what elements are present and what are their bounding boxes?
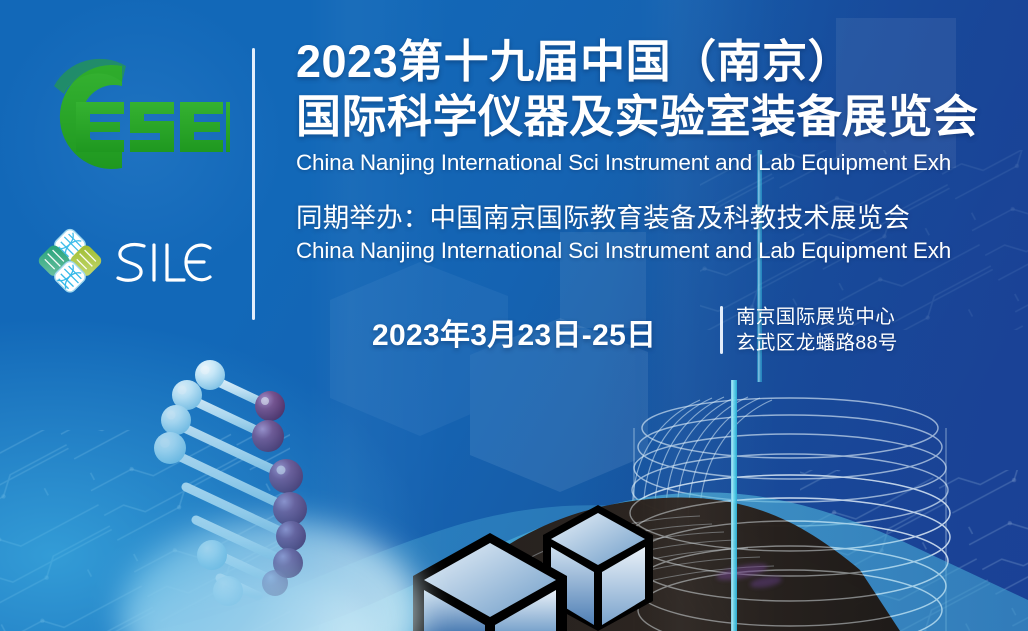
cesee-logo	[18, 52, 230, 182]
exhibition-banner: 2023第十九届中国（南京） 国际科学仪器及实验室装备展览会 China Nan…	[0, 0, 1028, 631]
subtitle-block: 同期举办：中国南京国际教育装备及科教技术展览会 China Nanjing In…	[296, 200, 1008, 266]
subtitle-english: China Nanjing International Sci Instrume…	[296, 236, 1008, 266]
sile-wordmark	[118, 245, 210, 281]
cesee-wordmark	[76, 102, 230, 152]
logo-block	[0, 0, 252, 360]
subtitle-chinese: 同期举办：中国南京国际教育装备及科教技术展览会	[296, 200, 1008, 236]
headline-english: China Nanjing International Sci Instrume…	[296, 148, 1008, 178]
venue-name: 南京国际展览中心	[736, 304, 898, 330]
header-vertical-divider	[252, 48, 255, 320]
venue-block: 南京国际展览中心 玄武区龙蟠路88号	[736, 304, 898, 356]
sile-logo	[34, 228, 214, 296]
headline-line-2: 国际科学仪器及实验室装备展览会	[296, 89, 1008, 144]
event-date: 2023年3月23日-25日	[372, 310, 656, 354]
sile-flower-mark	[36, 228, 103, 294]
venue-address: 玄武区龙蟠路88号	[736, 330, 898, 356]
headline-line-1: 2023第十九届中国（南京）	[296, 34, 1008, 89]
venue-vertical-divider	[720, 306, 723, 354]
headline-block: 2023第十九届中国（南京） 国际科学仪器及实验室装备展览会 China Nan…	[296, 34, 1008, 178]
banner-content: 2023第十九届中国（南京） 国际科学仪器及实验室装备展览会 China Nan…	[0, 0, 1028, 631]
